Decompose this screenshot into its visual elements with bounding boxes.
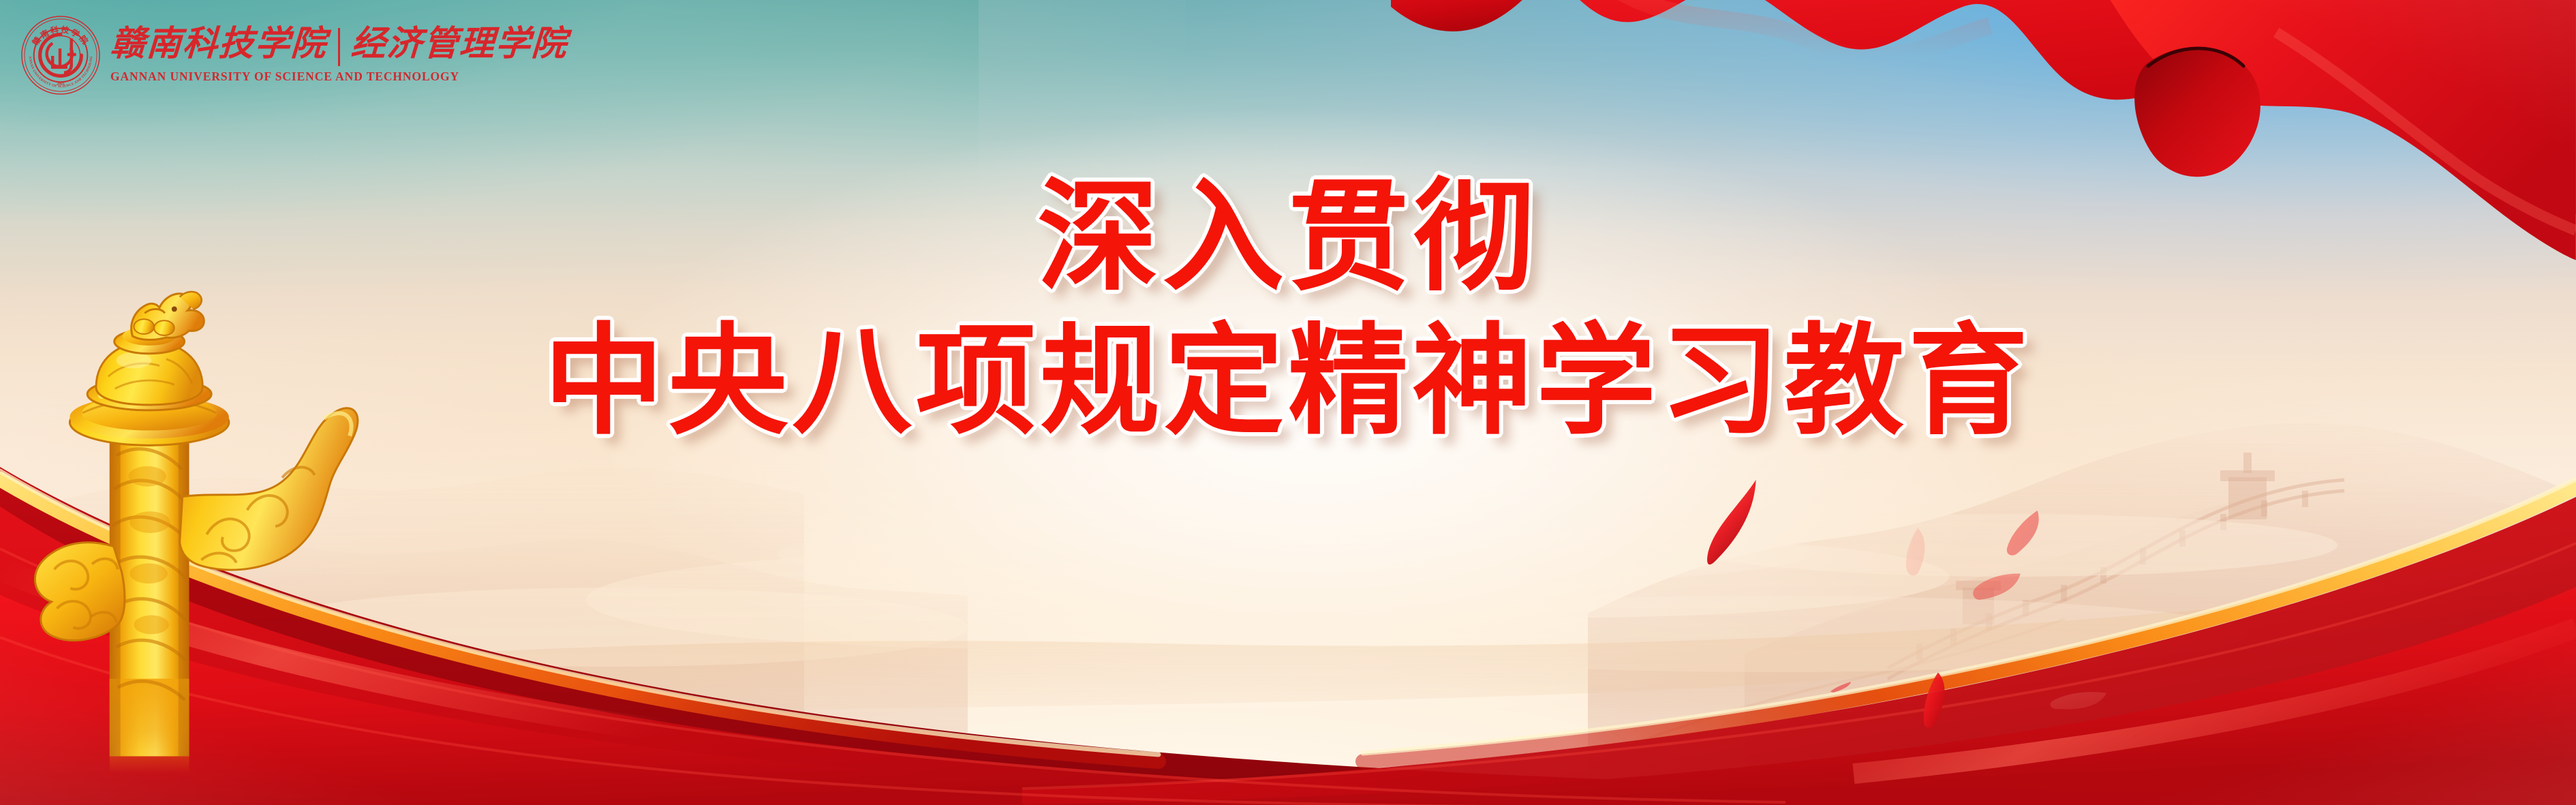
red-silk-wave-icon — [0, 467, 2576, 805]
logo-text-block: 赣南科技学院 经济管理学院 GANNAN UNIVERSITY OF SCIEN… — [110, 27, 568, 84]
huabiao-column-icon — [5, 274, 366, 773]
seal-year-text: 2001 — [57, 82, 65, 86]
university-seal-icon: 赣南科技学院 GANNAN UNIVERSITY OF SCIENCE AND … — [20, 15, 101, 95]
university-name-cn: 赣南科技学院 — [110, 27, 328, 62]
college-name-cn: 经济管理学院 — [350, 27, 569, 62]
logo-name-row: 赣南科技学院 经济管理学院 — [110, 27, 568, 66]
university-name-en: GANNAN UNIVERSITY OF SCIENCE AND TECHNOL… — [110, 70, 568, 84]
red-silk-ribbon-icon — [1391, 0, 2576, 290]
logo-name-divider — [338, 28, 340, 66]
university-logo-lockup[interactable]: 赣南科技学院 GANNAN UNIVERSITY OF SCIENCE AND … — [20, 15, 568, 95]
event-banner: 赣南科技学院 GANNAN UNIVERSITY OF SCIENCE AND … — [0, 0, 2576, 805]
